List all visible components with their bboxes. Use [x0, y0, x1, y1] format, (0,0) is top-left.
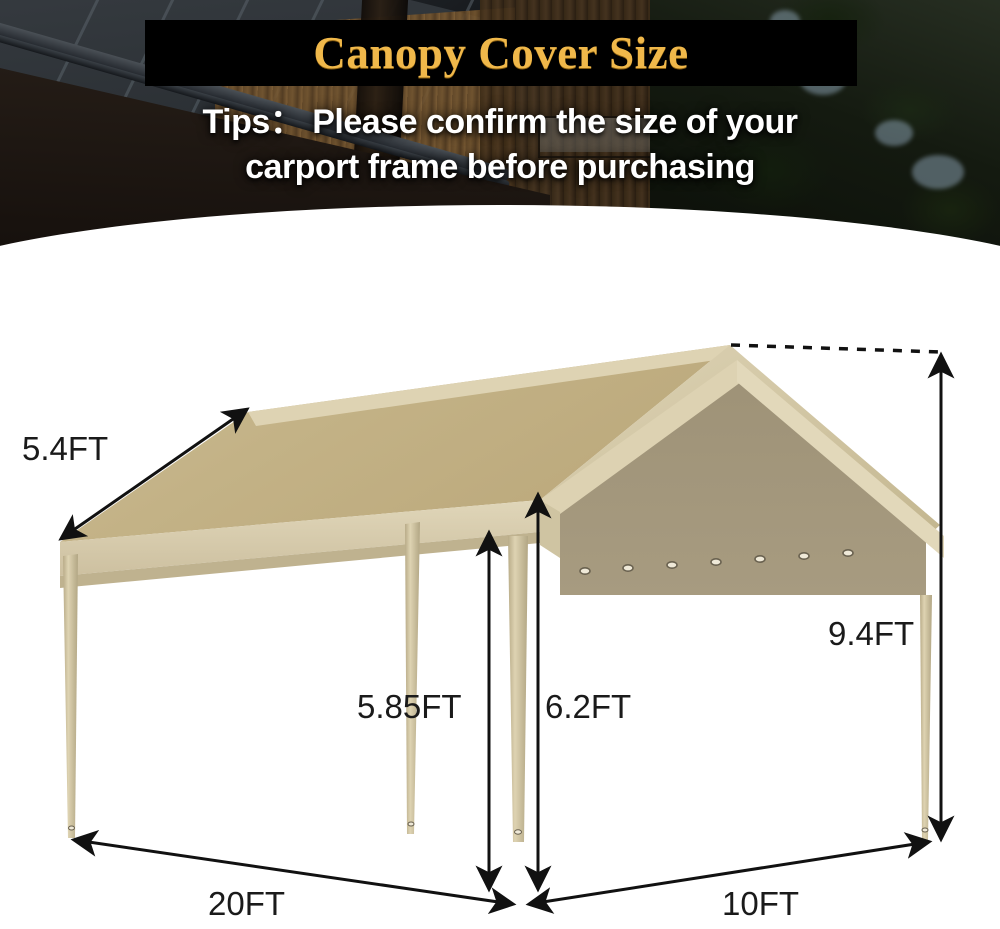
- tips-line-1: Tips： Please confirm the size of your: [203, 103, 798, 141]
- canopy-dimension-diagram: 5.4FT 9.4FT 6.2FT 5.85FT 20FT 10FT: [0, 300, 1000, 929]
- dim-label-front-post: 6.2FT: [545, 688, 631, 725]
- infographic-root: Canopy Cover Size Tips： Please confirm t…: [0, 0, 1000, 929]
- peak-extension-dashed-line: [731, 345, 940, 352]
- leg-grommet: [408, 822, 414, 826]
- canopy-leg-front-center: [508, 536, 528, 842]
- dim-label-length: 20FT: [208, 885, 285, 922]
- page-title: Canopy Cover Size: [145, 20, 857, 86]
- canopy-leg-front-left: [63, 554, 78, 838]
- title-banner: Canopy Cover Size: [145, 20, 857, 86]
- dim-label-peak-height: 9.4FT: [828, 615, 914, 652]
- dim-line-length: [75, 840, 512, 904]
- leg-grommet: [69, 826, 75, 830]
- canopy-leg-inner: [405, 522, 420, 834]
- tips-text: Tips： Please confirm the size of your ca…: [50, 100, 950, 190]
- leg-grommet: [515, 830, 522, 834]
- dim-label-width: 10FT: [722, 885, 799, 922]
- leg-grommet: [922, 828, 928, 832]
- canopy-leg-right: [920, 595, 932, 840]
- dim-label-slope: 5.4FT: [22, 430, 108, 467]
- tips-line-2: carport frame before purchasing: [50, 145, 950, 190]
- dim-label-inner-post: 5.85FT: [357, 688, 462, 725]
